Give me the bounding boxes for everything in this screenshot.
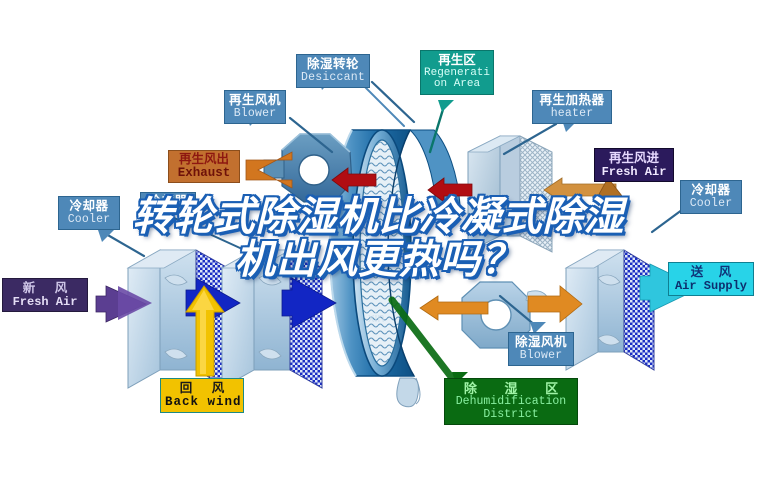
label-regeneration-area-cn: 再生区 — [424, 54, 490, 68]
label-regeneration-blower: 再生风机 Blower — [224, 90, 286, 124]
label-cooler-mid: 冷却器 — [140, 192, 196, 212]
label-back-wind-en: Back wind — [165, 396, 239, 410]
label-desiccant-rotor-en: Desiccant — [301, 72, 365, 84]
label-regeneration-blower-cn: 再生风机 — [229, 94, 281, 108]
label-exhaust-en: Exhaust — [173, 167, 235, 181]
label-cooler-right-cn: 冷却器 — [685, 184, 737, 198]
label-cooler-right: 冷却器 Cooler — [680, 180, 742, 214]
label-dehumidification-district: 除 湿 区 Dehumidification District — [444, 378, 578, 425]
label-cooler-left-en: Cooler — [63, 214, 115, 226]
condensate-drip — [397, 378, 420, 407]
label-desiccant-rotor: 除湿转轮 Desiccant — [296, 54, 370, 88]
label-cooler-right-en: Cooler — [685, 198, 737, 210]
label-air-supply-cn: 送 风 — [673, 266, 749, 280]
label-cooler-left: 冷却器 Cooler — [58, 196, 120, 230]
label-exhaust-cn: 再生风出 — [173, 153, 235, 167]
schematic-artwork: xin — [0, 0, 757, 488]
label-regeneration-air-inlet: 再生风进 Fresh Air — [594, 148, 674, 182]
regeneration-blower-housing — [264, 134, 352, 202]
cooler-coil-right — [566, 250, 654, 370]
label-exhaust: 再生风出 Exhaust — [168, 150, 240, 183]
label-cooler-mid-cn: 冷却器 — [145, 195, 191, 209]
watermark-text: xin — [368, 310, 385, 325]
heater-coil — [468, 136, 552, 252]
label-regeneration-heater-cn: 再生加热器 — [537, 94, 607, 108]
label-dehumidification-blower-cn: 除湿风机 — [513, 336, 569, 350]
label-regeneration-air-inlet-cn: 再生风进 — [599, 152, 669, 166]
label-regeneration-heater: 再生加热器 heater — [532, 90, 612, 124]
label-regeneration-area: 再生区 Regenerati on Area — [420, 50, 494, 95]
label-dehumidification-blower-en: Blower — [513, 350, 569, 362]
label-regeneration-area-en-2: on Area — [424, 79, 490, 91]
label-cooler-left-cn: 冷却器 — [63, 200, 115, 214]
label-back-wind-cn: 回 风 — [165, 382, 239, 396]
diagram-canvas: xin 除湿转轮 Desiccant 再生风机 Blower 再生区 Regen… — [0, 0, 757, 488]
label-regeneration-blower-en: Blower — [229, 108, 281, 120]
label-dehumidification-district-en-2: District — [449, 409, 573, 422]
label-regeneration-heater-en: heater — [537, 108, 607, 120]
label-air-supply-en: Air Supply — [673, 280, 749, 293]
label-dehumidification-district-en-1: Dehumidification — [449, 396, 573, 409]
label-dehumidification-district-cn: 除 湿 区 — [449, 382, 573, 396]
label-fresh-air-inlet-en: Fresh Air — [7, 296, 83, 309]
label-fresh-air-inlet-cn: 新 风 — [7, 282, 83, 296]
label-fresh-air-inlet: 新 风 Fresh Air — [2, 278, 88, 312]
label-back-wind: 回 风 Back wind — [160, 378, 244, 413]
label-regeneration-air-inlet-en: Fresh Air — [599, 166, 669, 179]
label-air-supply: 送 风 Air Supply — [668, 262, 754, 296]
label-dehumidification-blower: 除湿风机 Blower — [508, 332, 574, 366]
label-desiccant-rotor-cn: 除湿转轮 — [301, 58, 365, 72]
